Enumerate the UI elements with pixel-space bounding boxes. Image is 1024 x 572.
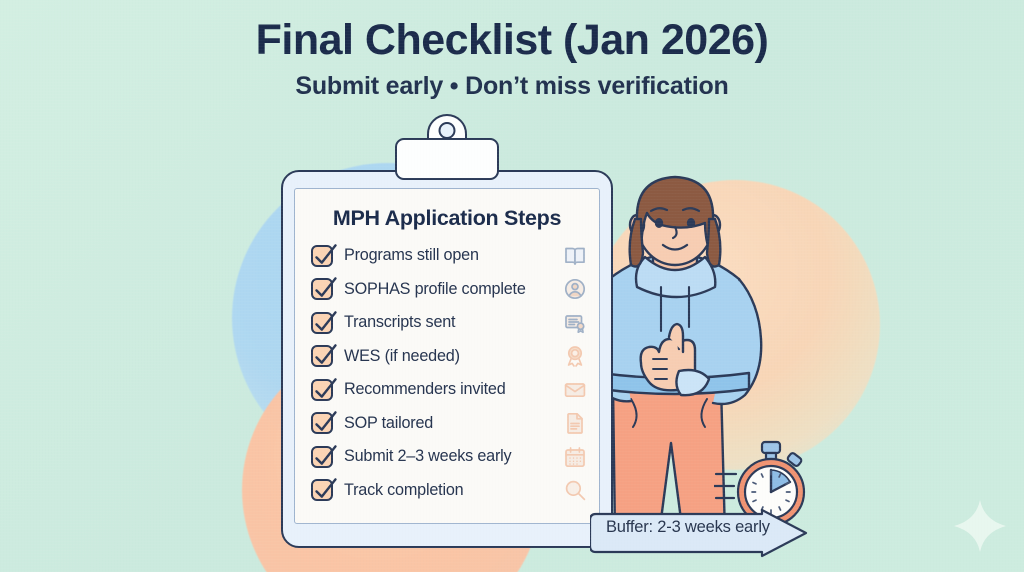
checkbox-checked[interactable]: [311, 412, 333, 434]
certificate-icon: [563, 311, 587, 335]
poster-canvas: Final Checklist (Jan 2026) Submit early …: [0, 0, 1024, 572]
book-icon: [563, 244, 587, 268]
document-icon: [563, 411, 587, 435]
checklist-title: MPH Application Steps: [295, 206, 599, 231]
checkbox-checked[interactable]: [311, 379, 333, 401]
checklist-row-label: Transcripts sent: [344, 313, 455, 332]
checklist-rows: Programs still openSOPHAS profile comple…: [295, 239, 599, 507]
checklist-row[interactable]: Transcripts sent: [311, 306, 587, 340]
checklist-row-label: WES (if needed): [344, 347, 460, 366]
checkbox-checked[interactable]: [311, 245, 333, 267]
checkbox-checked[interactable]: [311, 278, 333, 300]
checklist-row-label: SOP tailored: [344, 414, 433, 433]
page-subtitle: Submit early • Don’t miss verification: [0, 72, 1024, 101]
checklist-row-label: Programs still open: [344, 246, 479, 265]
award-rosette-icon: [563, 344, 587, 368]
checklist-row[interactable]: Recommenders invited: [311, 373, 587, 407]
checklist-row[interactable]: WES (if needed): [311, 340, 587, 374]
checkbox-checked[interactable]: [311, 312, 333, 334]
page-title: Final Checklist (Jan 2026): [0, 16, 1024, 64]
calendar-icon: [563, 445, 587, 469]
clipboard-clip: [395, 138, 499, 180]
checklist-row-label: Recommenders invited: [344, 380, 506, 399]
buffer-banner-label: Buffer: 2-3 weeks early: [606, 518, 770, 537]
magnifier-icon: [563, 478, 587, 502]
checklist-row[interactable]: Track completion: [311, 474, 587, 508]
checklist-row[interactable]: Submit 2–3 weeks early: [311, 440, 587, 474]
header: Final Checklist (Jan 2026) Submit early …: [0, 16, 1024, 101]
checklist-row[interactable]: SOPHAS profile complete: [311, 273, 587, 307]
envelope-icon: [563, 378, 587, 402]
checklist-row[interactable]: SOP tailored: [311, 407, 587, 441]
checklist-row[interactable]: Programs still open: [311, 239, 587, 273]
sparkle-icon: [952, 498, 1008, 559]
user-circle-icon: [563, 277, 587, 301]
checklist-row-label: SOPHAS profile complete: [344, 280, 526, 299]
clipboard-clip-hole: [439, 122, 456, 139]
checklist-paper: MPH Application Steps Programs still ope…: [294, 188, 600, 524]
buffer-banner: Buffer: 2-3 weeks early: [590, 508, 810, 563]
clipboard: MPH Application Steps Programs still ope…: [281, 170, 613, 548]
checklist-row-label: Submit 2–3 weeks early: [344, 447, 511, 466]
checkbox-checked[interactable]: [311, 446, 333, 468]
checkbox-checked[interactable]: [311, 479, 333, 501]
checkbox-checked[interactable]: [311, 345, 333, 367]
checklist-row-label: Track completion: [344, 481, 463, 500]
